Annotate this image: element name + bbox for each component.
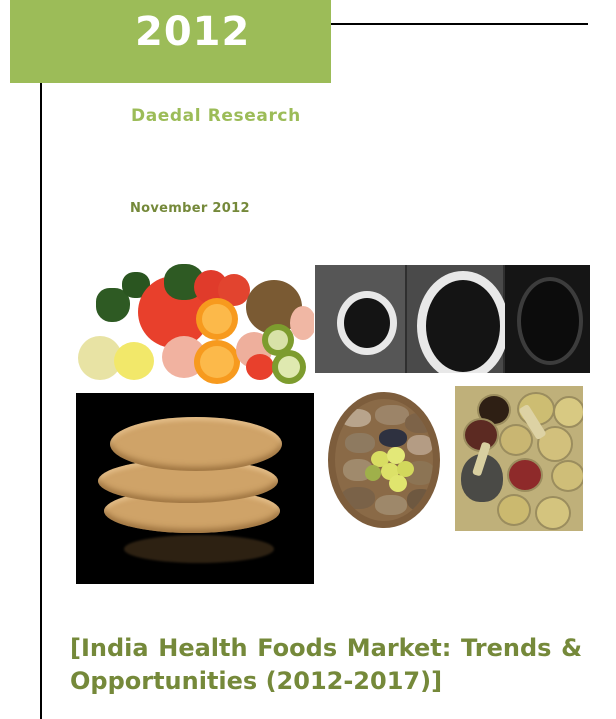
jar-panel-left — [315, 265, 405, 373]
image-fruits-vegetables — [76, 258, 314, 388]
image-dried-fruit-basket — [322, 388, 447, 533]
image-digestive-biscuits — [76, 393, 314, 584]
publication-date: November 2012 — [130, 201, 250, 216]
year-label: 2012 — [135, 8, 335, 56]
spice-bowls-illustration — [455, 386, 583, 531]
jar-panel-center — [407, 265, 503, 373]
page-border-left-rule — [40, 23, 42, 719]
report-cover-page: 2012 Daedal Research November 2012 — [0, 0, 616, 719]
publisher-name: Daedal Research — [131, 106, 301, 126]
image-grayscale-jars — [315, 265, 590, 373]
basket-illustration — [328, 392, 440, 528]
cover-image-collage — [70, 258, 590, 593]
fruits-illustration — [76, 258, 314, 388]
image-spices-and-herbs — [455, 386, 583, 531]
report-title: [India Health Foods Market: Trends & Opp… — [70, 632, 582, 698]
jar-panel-right — [505, 265, 590, 373]
